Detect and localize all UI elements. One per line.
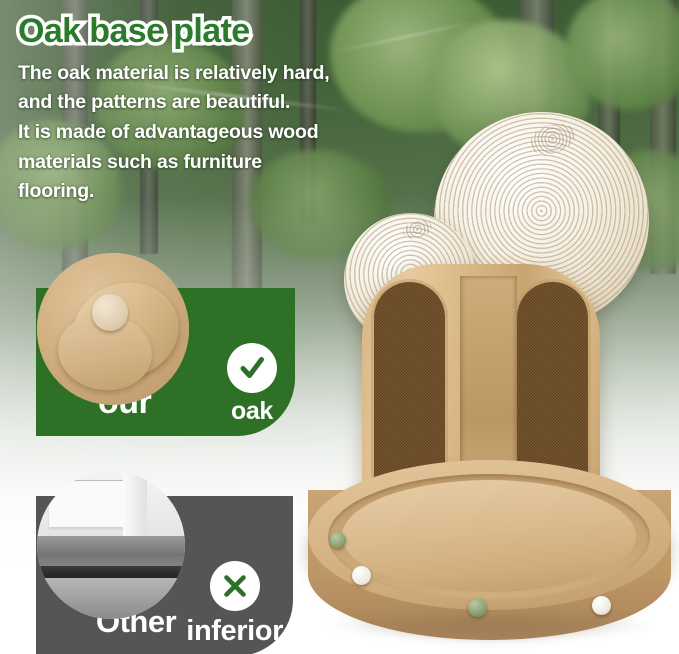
track-ball-white [352,566,371,585]
oval-oak-base-plate [300,446,679,642]
inset-photo-other [37,471,185,619]
verdict-label-oak: oak [231,397,273,426]
oak-track-ball [92,294,128,330]
inferior-board-photo [37,471,185,619]
base-inner-platform [342,480,636,592]
inset-photo-oak [37,253,189,405]
copy-block: Oak base plate The oak material is relat… [18,14,418,207]
oak-plate-photo [37,253,189,405]
page-title: Oak base plate [18,14,418,50]
verdict-other: inferior [186,561,283,648]
check-icon [227,343,277,393]
track-ball-green [330,532,346,548]
body-line: The oak material is relatively hard, [18,59,418,89]
verdict-label-inferior: inferior [186,615,283,648]
marketing-image: Oak base plate The oak material is relat… [0,0,679,654]
body-line: flooring. [18,177,418,207]
photo-board-edge [37,536,185,569]
photo-post [123,474,147,545]
body-copy: The oak material is relatively hard, and… [18,59,418,207]
body-line: It is made of advantageous wood [18,118,418,148]
body-line: materials such as furniture [18,148,418,178]
cross-icon [210,561,260,611]
body-line: and the patterns are beautiful. [18,88,418,118]
photo-floor [37,578,185,619]
base-drop-shadow [324,608,658,642]
verdict-our: oak [227,343,277,426]
photo-panel [49,480,123,527]
